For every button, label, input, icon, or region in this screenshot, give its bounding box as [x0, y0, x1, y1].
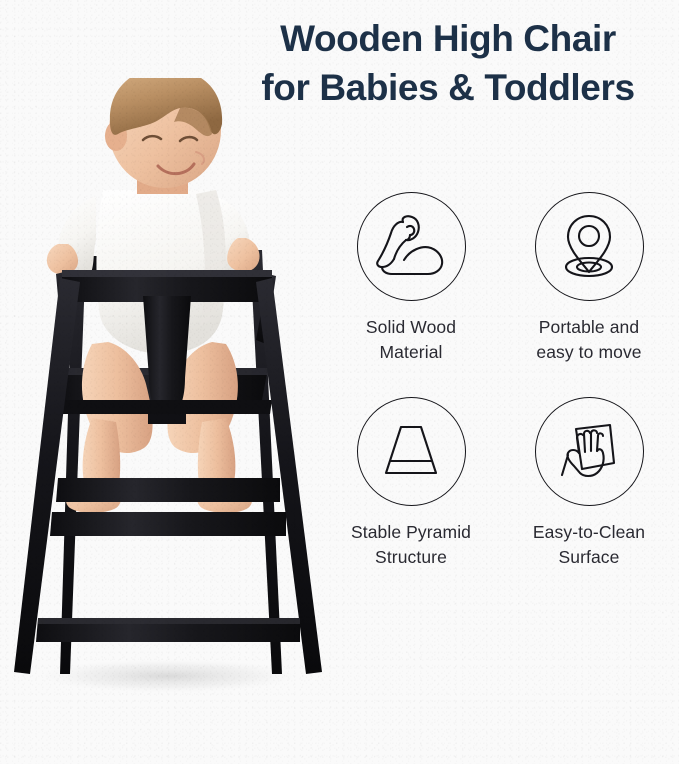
- baby-left-hand: [47, 244, 78, 274]
- product-marketing-image: Wooden High Chair for Babies & Toddlers …: [0, 0, 679, 764]
- feature-label-solid-wood: Solid Wood Material: [322, 315, 500, 366]
- page-title: Wooden High Chair for Babies & Toddlers: [224, 14, 672, 112]
- high-chair-illustration: [0, 78, 336, 764]
- feature-label-easy-clean: Easy-to-Clean Surface: [500, 520, 678, 571]
- chair-crossbar-low-highlight: [38, 618, 300, 624]
- feature-item-stable-pyramid: Stable Pyramid Structure: [322, 397, 500, 571]
- feature-label-stable-pyramid: Stable Pyramid Structure: [322, 520, 500, 571]
- feature-label-line-2: Structure: [322, 545, 500, 570]
- flexed-bicep-icon: [357, 192, 466, 301]
- feature-label-line-1: Solid Wood: [322, 315, 500, 340]
- product-photo: [0, 78, 336, 764]
- chair-front-bar-top: [62, 270, 272, 277]
- chair-crossbar-mid: [50, 512, 286, 536]
- title-line-1: Wooden High Chair: [224, 14, 672, 63]
- chair-seat-front-lip: [60, 400, 272, 414]
- feature-label-line-2: Material: [322, 340, 500, 365]
- feature-item-portable: Portable and easy to move: [500, 192, 678, 366]
- feature-label-line-1: Portable and: [500, 315, 678, 340]
- feature-label-line-2: easy to move: [500, 340, 678, 365]
- location-pin-icon: [535, 192, 644, 301]
- hand-wiping-cloth-icon: [535, 397, 644, 506]
- feature-label-line-2: Surface: [500, 545, 678, 570]
- feature-label-line-1: Stable Pyramid: [322, 520, 500, 545]
- title-line-2: for Babies & Toddlers: [224, 63, 672, 112]
- pyramid-trapezoid-icon: [357, 397, 466, 506]
- floor-shadow: [38, 659, 298, 693]
- feature-item-easy-clean: Easy-to-Clean Surface: [500, 397, 678, 571]
- chair-footrest-bar: [56, 478, 280, 502]
- feature-grid: Solid Wood Material Portable and easy to…: [322, 192, 679, 582]
- feature-label-line-1: Easy-to-Clean: [500, 520, 678, 545]
- feature-item-solid-wood: Solid Wood Material: [322, 192, 500, 366]
- feature-label-portable: Portable and easy to move: [500, 315, 678, 366]
